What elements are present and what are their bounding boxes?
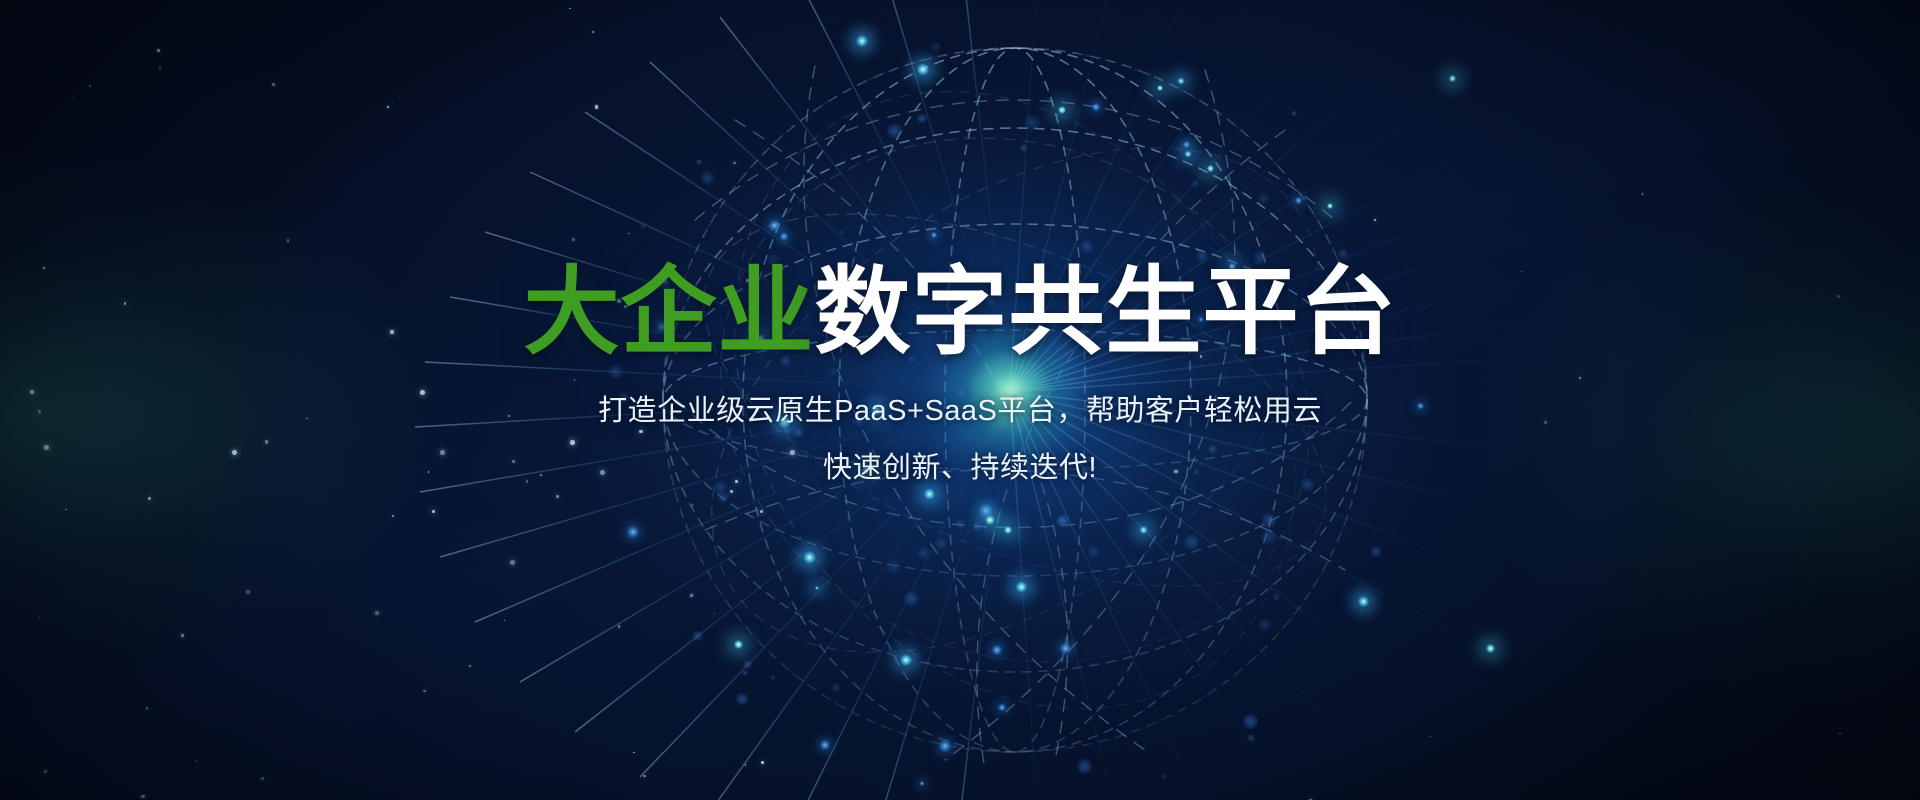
headline-main: 数字共生平台 bbox=[815, 259, 1397, 366]
page-title: 大企业数字共生平台 bbox=[524, 262, 1397, 364]
hero-subtitle: 打造企业级云原生PaaS+SaaS平台，帮助客户轻松用云 快速创新、持续迭代! bbox=[598, 388, 1322, 492]
hero-content: 大企业数字共生平台 打造企业级云原生PaaS+SaaS平台，帮助客户轻松用云 快… bbox=[0, 0, 1920, 800]
subtitle-line-1: 打造企业级云原生PaaS+SaaS平台，帮助客户轻松用云 bbox=[598, 388, 1322, 435]
subtitle-line-2: 快速创新、持续迭代! bbox=[598, 445, 1322, 492]
headline-accent: 大企业 bbox=[524, 259, 815, 366]
hero-banner: 大企业数字共生平台 打造企业级云原生PaaS+SaaS平台，帮助客户轻松用云 快… bbox=[0, 0, 1920, 800]
